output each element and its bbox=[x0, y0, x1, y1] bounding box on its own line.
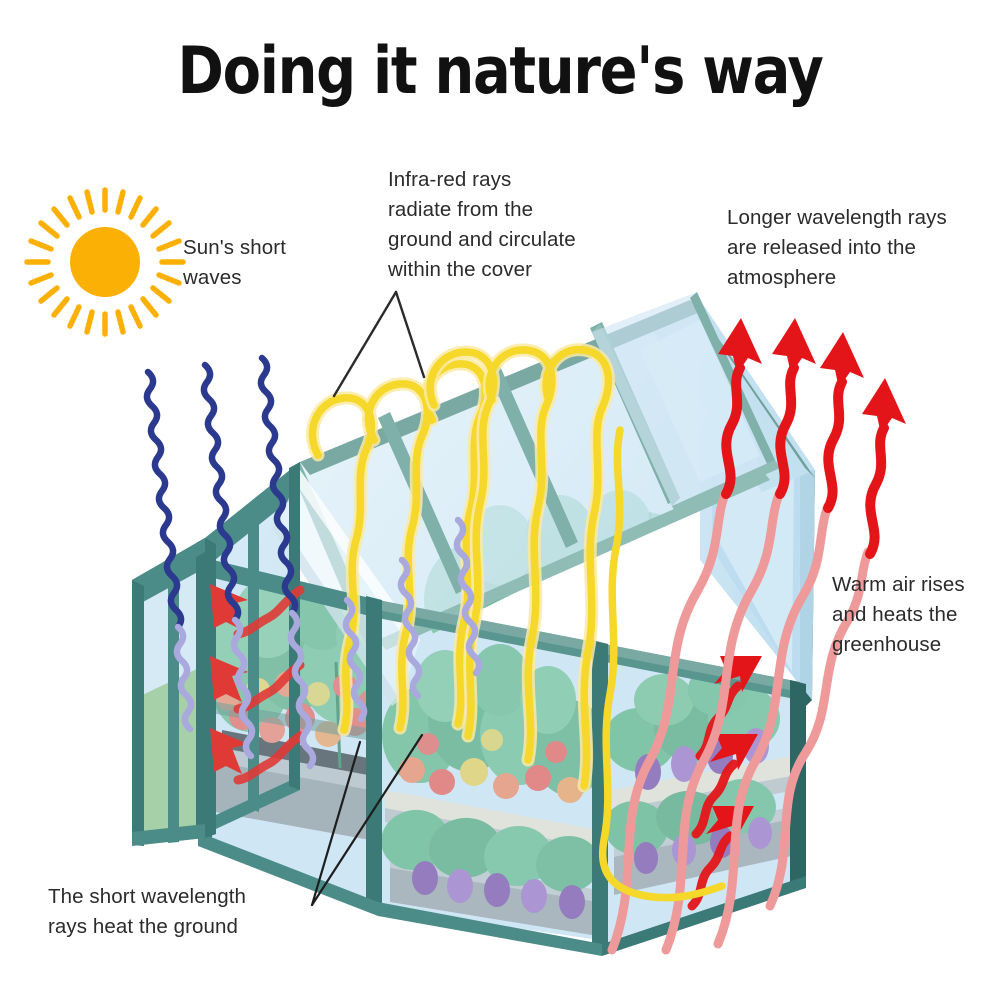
sun-icon bbox=[27, 190, 183, 334]
annotation-infra-red-rays: Infra-red rays radiate from the ground a… bbox=[388, 165, 618, 285]
greenhouse-diagram bbox=[0, 0, 1000, 1000]
annotation-sun-short-waves: Sun's short waves bbox=[183, 233, 343, 293]
annotation-longer-wavelength: Longer wavelength rays are released into… bbox=[727, 203, 967, 293]
annotation-warm-air-rises: Warm air rises and heats the greenhouse bbox=[832, 570, 1000, 660]
infographic-canvas: Doing it nature's way Sun's short waves … bbox=[0, 0, 1000, 1000]
page-title: Doing it nature's way bbox=[70, 34, 930, 109]
annotation-short-wavelength-ground: The short wavelength rays heat the groun… bbox=[48, 882, 308, 942]
